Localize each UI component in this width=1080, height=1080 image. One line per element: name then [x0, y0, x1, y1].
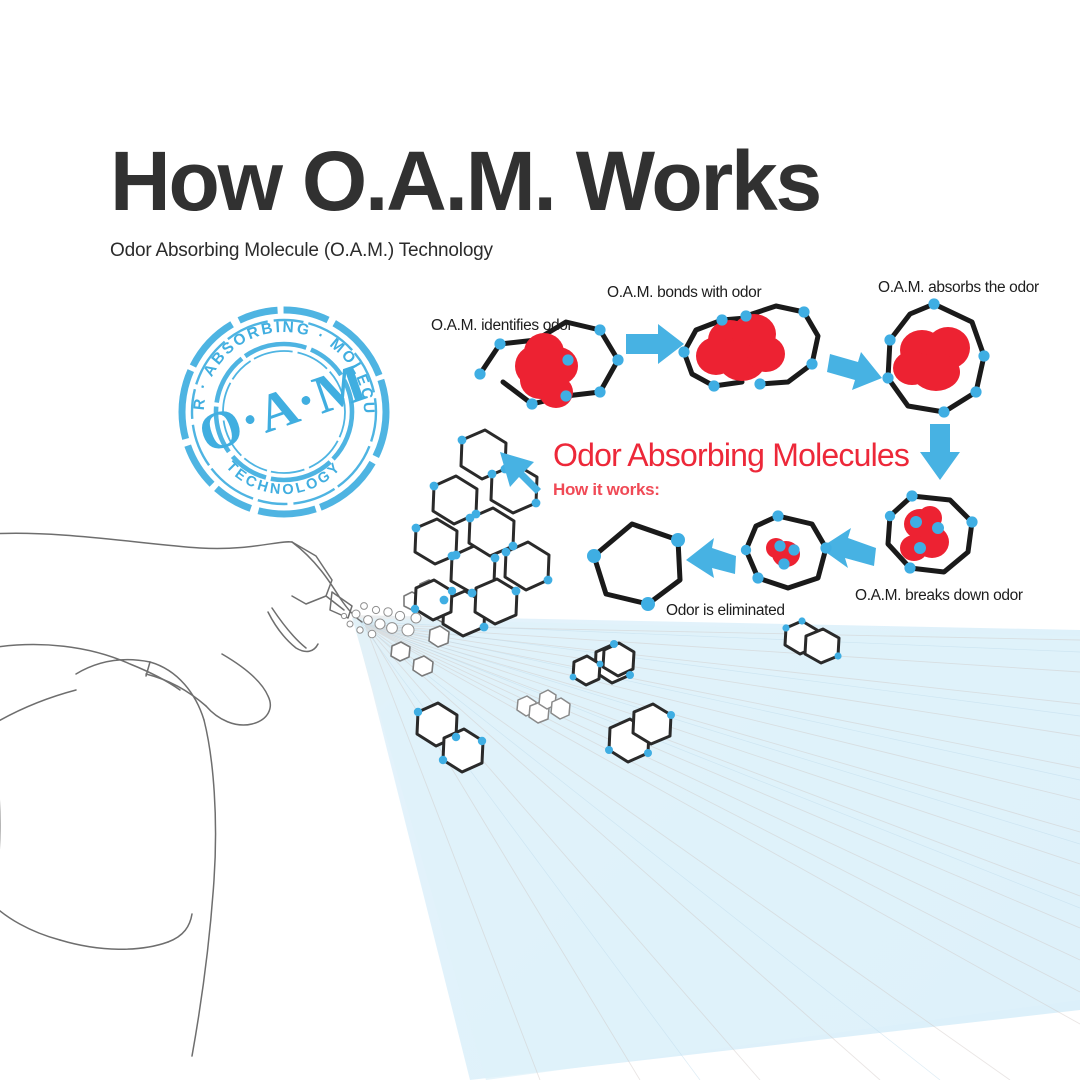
arrow-absorb-to-breakdown	[920, 424, 960, 480]
step-fragment-molecule	[741, 510, 832, 588]
arrow-fragment-to-eliminated	[686, 538, 736, 578]
center-callout: Odor Absorbing Molecules How it works:	[553, 437, 909, 500]
step-bond-molecule	[678, 306, 818, 392]
center-callout-title: Odor Absorbing Molecules	[553, 437, 909, 474]
infographic-canvas: ODOR · ABSORBING · MOLECULES TECHNOLOGY …	[0, 0, 1080, 1080]
center-callout-subtitle: How it works:	[553, 474, 909, 500]
arrow-bond-to-absorb	[827, 352, 882, 390]
caption-breakdown: O.A.M. breaks down odor	[855, 587, 1023, 605]
step-absorb-molecule	[882, 298, 989, 417]
arrow-identify-to-bond	[626, 324, 684, 364]
oam-stamp: ODOR · ABSORBING · MOLECULES TECHNOLOGY …	[182, 310, 386, 514]
caption-eliminated: Odor is eliminated	[666, 602, 785, 620]
hand-holding-spray-bottle	[0, 533, 362, 1056]
step-identify-molecule	[474, 322, 623, 410]
caption-absorb: O.A.M. absorbs the odor	[878, 279, 1039, 297]
step-eliminated-molecule	[587, 524, 685, 611]
page-title: How O.A.M. Works	[110, 142, 990, 222]
caption-identify: O.A.M. identifies odor	[431, 317, 572, 335]
step-breakdown-molecule	[885, 490, 978, 573]
caption-bond: O.A.M. bonds with odor	[607, 284, 761, 302]
spray-mist-cone	[352, 615, 1080, 1080]
header-block: How O.A.M. Works Odor Absorbing Molecule…	[110, 142, 990, 262]
